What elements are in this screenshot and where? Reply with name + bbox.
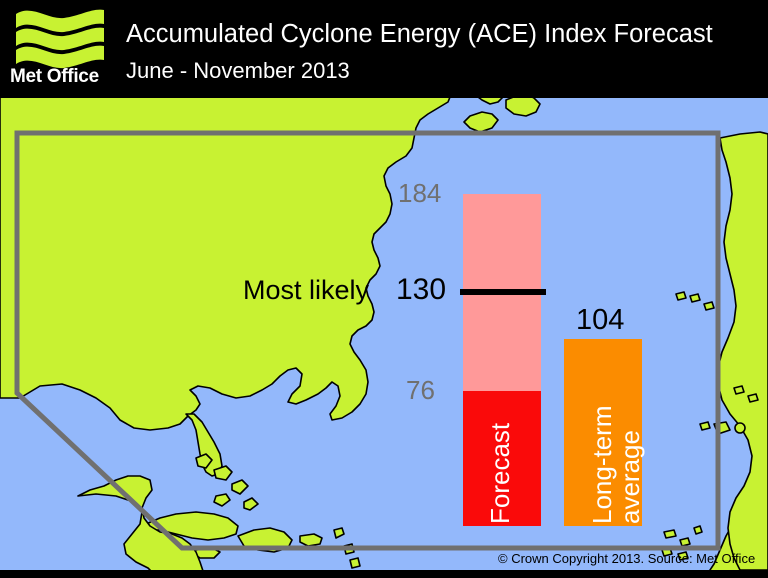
page-subtitle: June - November 2013 — [126, 58, 350, 84]
bottom-border — [0, 570, 768, 578]
long-term-average-bar-label: Long-term average — [588, 382, 644, 524]
most-likely-line — [460, 289, 546, 295]
header-banner: Met Office Accumulated Cyclone Energy (A… — [0, 0, 768, 98]
ace-forecast-graphic: 184 76 Most likely 130 104 Forecast Long… — [0, 0, 768, 578]
most-likely-value: 130 — [396, 275, 446, 305]
long-term-average-value: 104 — [576, 306, 624, 335]
copyright-notice: © Crown Copyright 2013. Source: Met Offi… — [498, 551, 755, 566]
met-office-wordmark: Met Office — [10, 66, 110, 88]
forecast-lower-value: 76 — [406, 377, 435, 403]
forecast-bar-label: Forecast — [486, 418, 514, 524]
most-likely-label: Most likely — [243, 276, 369, 304]
forecast-upper-value: 184 — [398, 180, 441, 206]
page-title: Accumulated Cyclone Energy (ACE) Index F… — [126, 20, 713, 49]
